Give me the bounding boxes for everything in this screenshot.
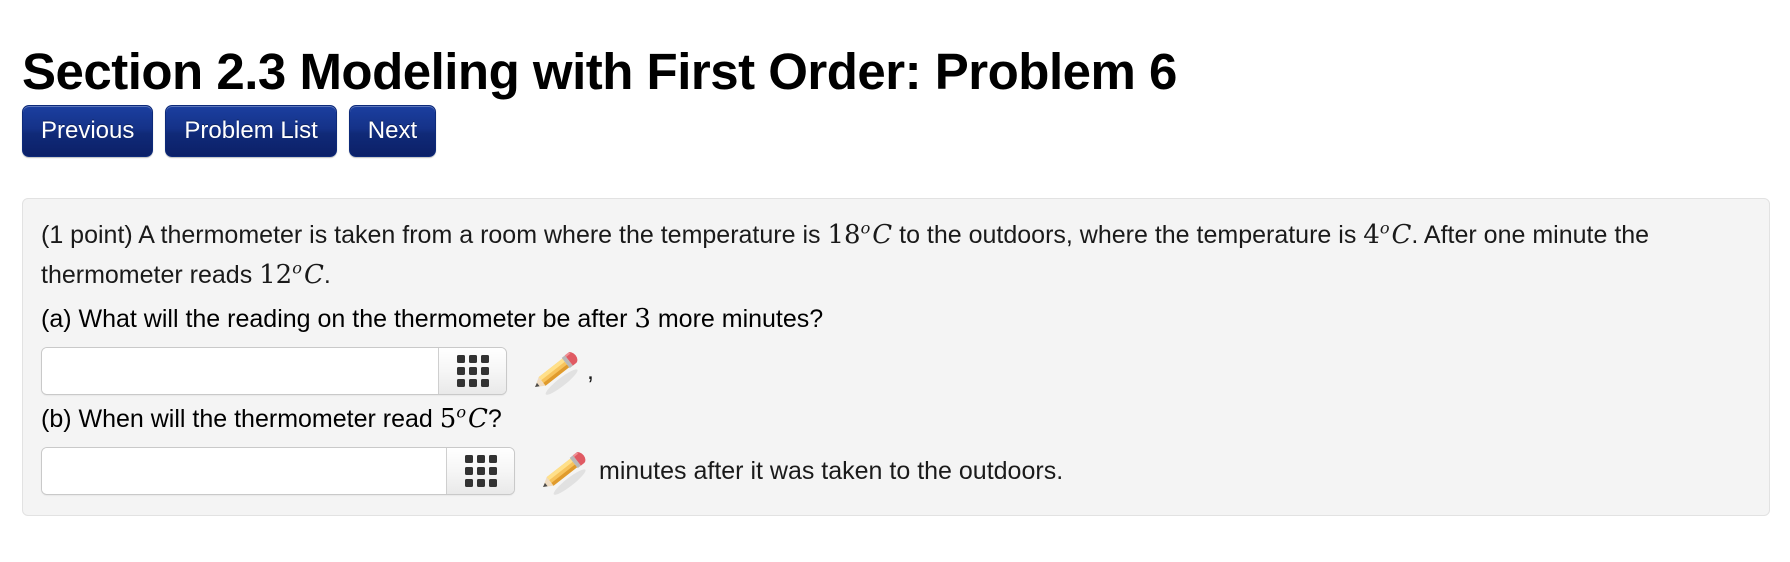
question-a-post: more minutes? [651,305,823,333]
points-label: (1 point) [41,221,133,249]
answer-b-suffix: minutes after it was taken to the outdoo… [599,451,1063,491]
math-outdoor-temperature: 4oC [1363,220,1411,250]
answer-a-suffix: , [587,351,594,391]
math-b-target-temperature: 5oC [440,404,488,434]
answer-field-b [41,447,515,495]
math-room-temperature: 18oC [827,220,892,250]
problem-panel: (1 point) A thermometer is taken from a … [22,198,1770,516]
math-a-minutes: 3 [634,304,651,334]
keypad-button-b[interactable] [446,448,514,494]
page-title: Section 2.3 Modeling with First Order: P… [22,38,1177,106]
pencil-icon[interactable] [533,447,589,495]
problem-list-button[interactable]: Problem List [165,105,336,157]
math-one-minute-reading: 12oC [259,260,324,290]
question-b-post: ? [488,405,502,433]
question-a-text: (a) What will the reading on the thermom… [41,299,1751,339]
problem-statement: (1 point) A thermometer is taken from a … [41,215,1751,295]
keypad-grid-icon [457,355,489,387]
answer-row-b: minutes after it was taken to the outdoo… [41,447,1751,495]
question-b-text: (b) When will the thermometer read 5oC? [41,399,1751,439]
answer-field-a [41,347,507,395]
pencil-icon[interactable] [525,347,581,395]
statement-text-1: A thermometer is taken from a room where… [133,221,828,249]
problem-navigation-bar: Previous Problem List Next [22,105,436,157]
answer-input-a[interactable] [42,348,438,394]
question-b-pre: (b) When will the thermometer read [41,405,440,433]
statement-text-4: . [324,261,331,289]
next-button[interactable]: Next [349,105,436,157]
question-a-pre: (a) What will the reading on the thermom… [41,305,634,333]
keypad-grid-icon [465,455,497,487]
statement-text-2: to the outdoors, where the temperature i… [892,221,1363,249]
previous-button[interactable]: Previous [22,105,153,157]
answer-input-b[interactable] [42,448,446,494]
answer-row-a: , [41,347,1751,395]
keypad-button-a[interactable] [438,348,506,394]
